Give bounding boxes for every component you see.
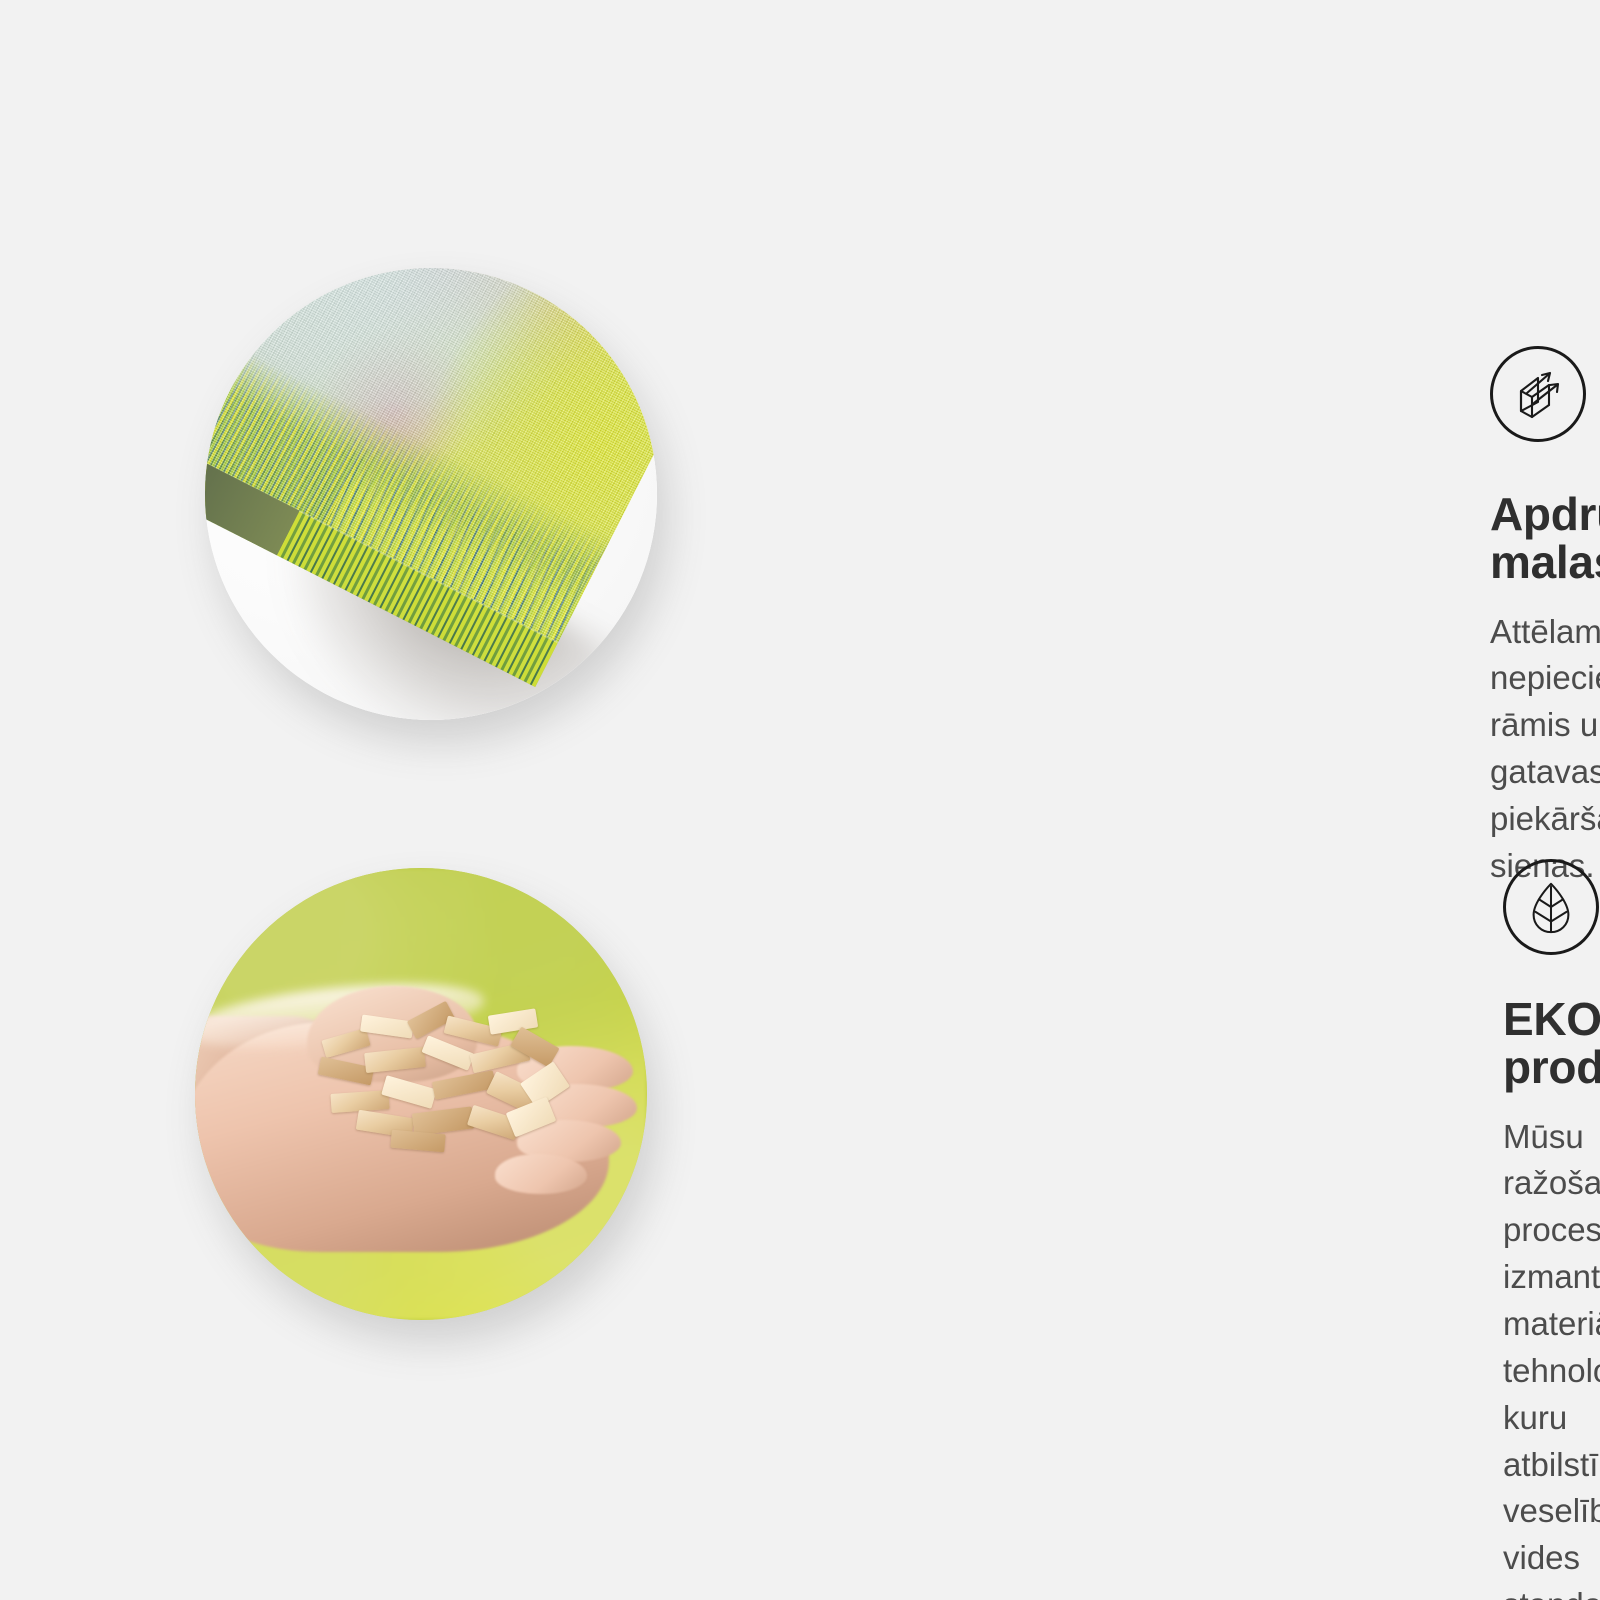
feature-1-description: Attēlam nav nepieciešams rāmis un tas ir…: [1490, 609, 1600, 890]
feature-2-title: EKO produkts: [1503, 995, 1600, 1092]
feature-2-media: [0, 855, 740, 1375]
feature-printed-edges: Apdrukātas malas Attēlam nav nepieciešam…: [0, 246, 1600, 766]
feature-1-media: [0, 246, 740, 766]
feature-1-text: Apdrukātas malas Attēlam nav nepieciešam…: [740, 246, 1600, 890]
product-features-page: Apdrukātas malas Attēlam nav nepieciešam…: [0, 0, 1600, 1600]
feature-1-title: Apdrukātas malas: [1490, 490, 1600, 587]
leaf-icon: [1503, 859, 1599, 955]
feature-2-description: Mūsu ražošanas procesā tiek izmantoti ma…: [1503, 1114, 1600, 1600]
canvas-corner-photo: [205, 268, 657, 720]
feature-eco-product: EKO produkts Mūsu ražošanas procesā tiek…: [0, 855, 1600, 1375]
wood-chips: [313, 1000, 573, 1160]
hand-with-wood-chips-photo: [195, 868, 647, 1320]
feature-2-text: EKO produkts Mūsu ražošanas procesā tiek…: [740, 855, 1600, 1600]
printed-edges-icon: [1490, 346, 1586, 442]
